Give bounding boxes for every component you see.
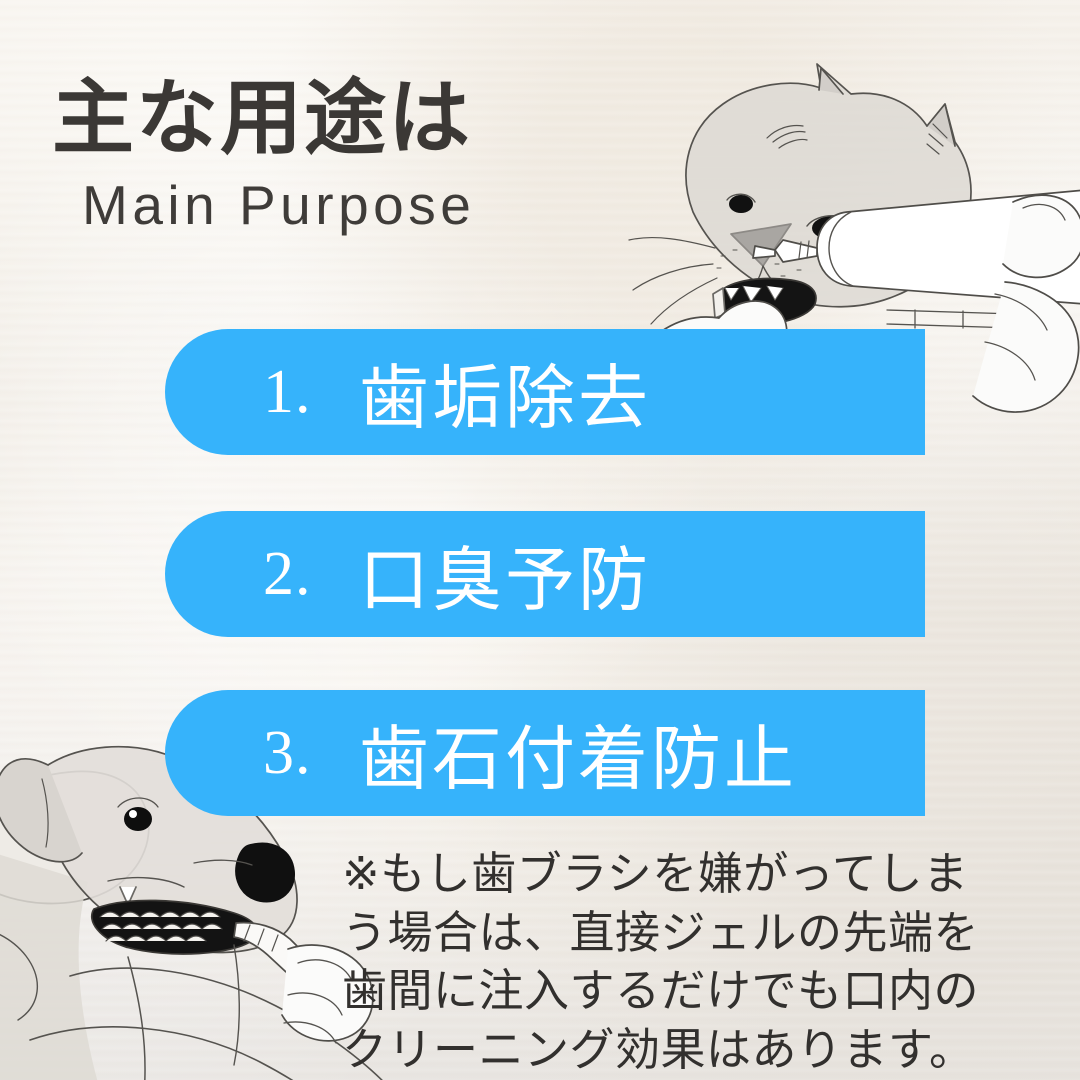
purpose-item-1-label: 歯垢除去 — [359, 342, 651, 443]
purpose-item-1[interactable]: 1. 歯垢除去 — [165, 329, 925, 455]
note-block: ※もし歯ブラシを嫌がってしまう場合は、直接ジェルの先端を歯間に注入するだけでも口… — [342, 845, 1014, 1079]
page-subtitle: Main Purpose — [82, 178, 475, 233]
purpose-item-3[interactable]: 3. 歯石付着防止 — [165, 690, 925, 816]
purpose-item-2-label: 口臭予防 — [359, 524, 651, 625]
purpose-item-2-number: 2. — [263, 539, 359, 610]
note-text: ※もし歯ブラシを嫌がってしまう場合は、直接ジェルの先端を歯間に注入するだけでも口… — [342, 845, 1014, 1079]
infographic-canvas: 主な用途は Main Purpose 1. 歯垢除去 2. 口臭予防 3. 歯石… — [0, 0, 1080, 1080]
purpose-item-3-label: 歯石付着防止 — [359, 703, 797, 804]
page-title: 主な用途は — [52, 78, 475, 160]
purpose-item-2[interactable]: 2. 口臭予防 — [165, 511, 925, 637]
purpose-item-1-number: 1. — [263, 357, 359, 428]
heading-block: 主な用途は Main Purpose — [52, 78, 475, 233]
purpose-item-3-number: 3. — [263, 718, 359, 789]
